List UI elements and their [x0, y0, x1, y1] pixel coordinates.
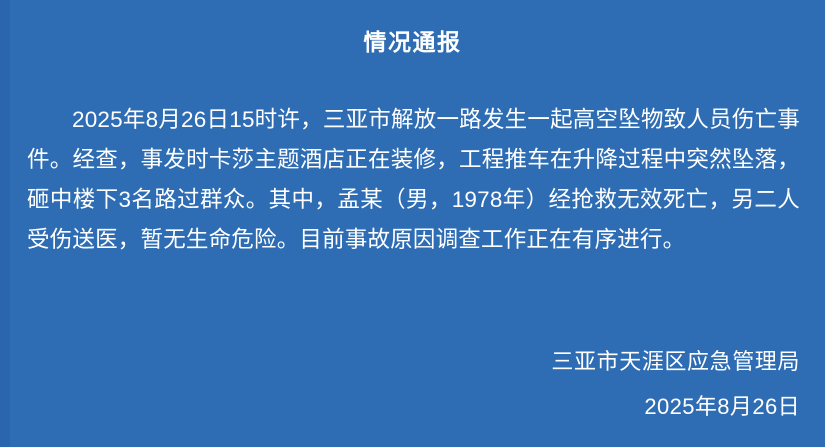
signature-date: 2025年8月26日 [300, 392, 800, 422]
notice-body: 2025年8月26日15时许，三亚市解放一路发生一起高空坠物致人员伤亡事件。经查… [27, 100, 800, 260]
signature-organization: 三亚市天涯区应急管理局 [300, 347, 800, 377]
body-paragraph: 2025年8月26日15时许，三亚市解放一路发生一起高空坠物致人员伤亡事件。经查… [27, 100, 800, 260]
page-title: 情况通报 [0, 31, 825, 54]
notice-content: 情况通报 2025年8月26日15时许，三亚市解放一路发生一起高空坠物致人员伤亡… [0, 0, 825, 447]
notice-card: 情况通报 2025年8月26日15时许，三亚市解放一路发生一起高空坠物致人员伤亡… [0, 0, 825, 447]
notice-signature: 三亚市天涯区应急管理局 2025年8月26日 [300, 347, 800, 422]
